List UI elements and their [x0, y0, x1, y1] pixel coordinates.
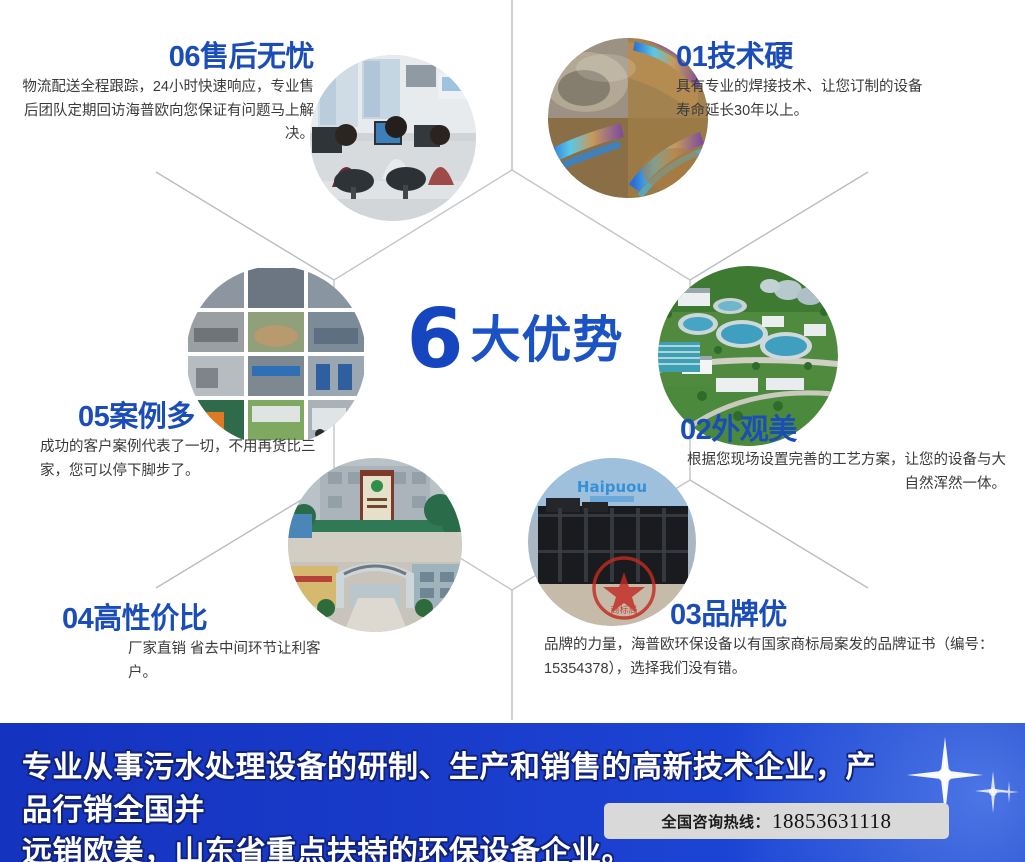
infographic-root: 06售后无忧 物流配送全程跟踪，24小时快速响应，专业售后团队定期回访海普欧向您…	[0, 0, 1025, 862]
feature-03-body: 品牌的力量，海普欧环保设备以有国家商标局案发的品牌证书（编号：15354378）…	[544, 634, 1016, 681]
office-staff-photo	[310, 55, 476, 221]
feature-06: 06售后无忧 物流配送全程跟踪，24小时快速响应，专业售后团队定期回访海普欧向您…	[14, 42, 314, 147]
bottom-banner: 专业从事污水处理设备的研制、生产和销售的高新技术企业，产品行销全国并 远销欧美，…	[0, 723, 1025, 862]
hotline-number: 18853631118	[772, 809, 891, 834]
svg-text:Haipuou: Haipuou	[577, 478, 647, 496]
feature-02-heading: 02外观美	[680, 415, 1006, 445]
feature-01: 01技术硬 具有专业的焊接技术、让您订制的设备寿命延长30年以上。	[676, 42, 926, 123]
feature-02: 02外观美 根据您现场设置完善的工艺方案，让您的设备与大自然浑然一体。	[680, 415, 1006, 496]
feature-04-body: 厂家直销 省去中间环节让利客户。	[128, 638, 332, 685]
feature-06-body: 物流配送全程跟踪，24小时快速响应，专业售后团队定期回访海普欧向您保证有问题马上…	[14, 76, 314, 146]
feature-05: 05案例多 成功的客户案例代表了一切，不用再货比三家，您可以停下脚步了。	[40, 402, 330, 483]
feature-01-heading: 01技术硬	[676, 42, 926, 72]
feature-01-body: 具有专业的焊接技术、让您订制的设备寿命延长30年以上。	[676, 76, 926, 123]
center-number: 6	[406, 299, 460, 381]
feature-02-body: 根据您现场设置完善的工艺方案，让您的设备与大自然浑然一体。	[680, 449, 1006, 496]
feature-03-heading: 03品牌优	[670, 600, 1016, 630]
hotline-label: 全国咨询热线：	[662, 811, 771, 832]
feature-03: 03品牌优 品牌的力量，海普欧环保设备以有国家商标局案发的品牌证书（编号：153…	[544, 600, 1016, 681]
center-label: 大优势	[471, 315, 624, 365]
feature-05-heading: 05案例多	[78, 402, 330, 432]
hotline-box[interactable]: 全国咨询热线： 18853631118	[604, 803, 949, 839]
feature-06-heading: 06售后无忧	[14, 42, 314, 72]
feature-04: 04高性价比 厂家直销 省去中间环节让利客户。	[62, 604, 332, 685]
center-badge: 6 大优势	[370, 290, 660, 390]
feature-05-body: 成功的客户案例代表了一切，不用再货比三家，您可以停下脚步了。	[40, 436, 330, 483]
feature-04-heading: 04高性价比	[62, 604, 332, 634]
